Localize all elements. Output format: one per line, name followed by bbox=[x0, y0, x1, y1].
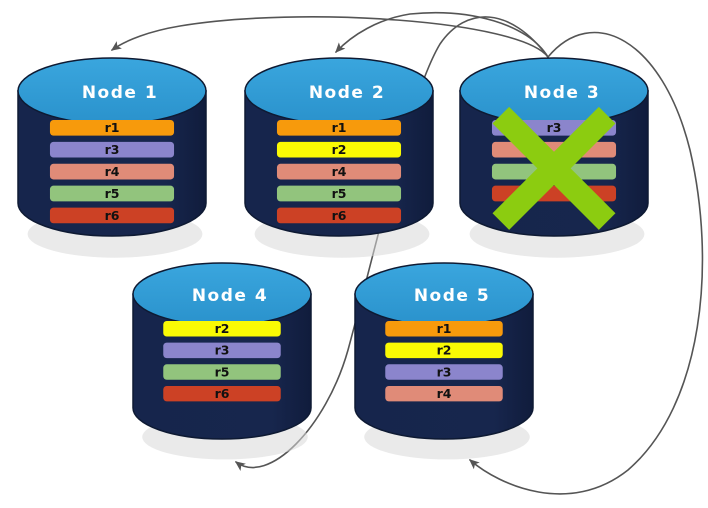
node-2-record-label-r2: r2 bbox=[332, 142, 347, 157]
arrow-node3-to-node1-path bbox=[112, 17, 548, 57]
node-4-record-label-r6: r6 bbox=[215, 386, 230, 401]
node-2-record-label-r4: r4 bbox=[332, 164, 347, 179]
replica-placement-diagram: Node 1r1r3r4r5r6Node 2r1r2r4r5r6Node 3r3… bbox=[0, 0, 708, 508]
node-2-label: Node 2 bbox=[309, 83, 385, 103]
node-2-record-label-r1: r1 bbox=[332, 120, 347, 135]
arrow-node3-to-node1 bbox=[112, 17, 548, 57]
node-2[interactable]: Node 2r1r2r4r5r6 bbox=[245, 58, 433, 258]
diagram-canvas: Node 1r1r3r4r5r6Node 2r1r2r4r5r6Node 3r3… bbox=[0, 0, 708, 508]
node-5-label: Node 5 bbox=[414, 286, 490, 306]
node-1-record-label-r3: r3 bbox=[105, 142, 120, 157]
node-1-record-label-r4: r4 bbox=[105, 164, 120, 179]
arrow-node3-to-node2 bbox=[336, 13, 548, 57]
node-2-record-label-r6: r6 bbox=[332, 208, 347, 223]
node-4-record-label-r5: r5 bbox=[215, 364, 230, 379]
node-5-record-label-r3: r3 bbox=[437, 364, 452, 379]
node-4-label: Node 4 bbox=[192, 286, 268, 306]
node-5-record-label-r1: r1 bbox=[437, 321, 452, 336]
node-4[interactable]: Node 4r2r3r5r6 bbox=[133, 263, 311, 459]
node-1-record-label-r6: r6 bbox=[105, 208, 120, 223]
node-3-label: Node 3 bbox=[524, 83, 600, 103]
node-5[interactable]: Node 5r1r2r3r4 bbox=[355, 263, 533, 459]
node-layer: Node 1r1r3r4r5r6Node 2r1r2r4r5r6Node 3r3… bbox=[18, 58, 648, 459]
node-1-record-label-r5: r5 bbox=[105, 186, 120, 201]
node-1-record-label-r1: r1 bbox=[105, 120, 120, 135]
node-4-record-label-r3: r3 bbox=[215, 343, 230, 358]
node-4-record-label-r2: r2 bbox=[215, 321, 230, 336]
node-5-record-label-r2: r2 bbox=[437, 343, 452, 358]
arrow-node3-to-node2-path bbox=[336, 13, 548, 57]
node-3-record-label-r3: r3 bbox=[547, 120, 562, 135]
node-1[interactable]: Node 1r1r3r4r5r6 bbox=[18, 58, 206, 258]
node-3[interactable]: Node 3r3 bbox=[460, 58, 648, 258]
node-5-record-label-r4: r4 bbox=[437, 386, 452, 401]
node-2-record-label-r5: r5 bbox=[332, 186, 347, 201]
node-1-label: Node 1 bbox=[82, 83, 158, 103]
